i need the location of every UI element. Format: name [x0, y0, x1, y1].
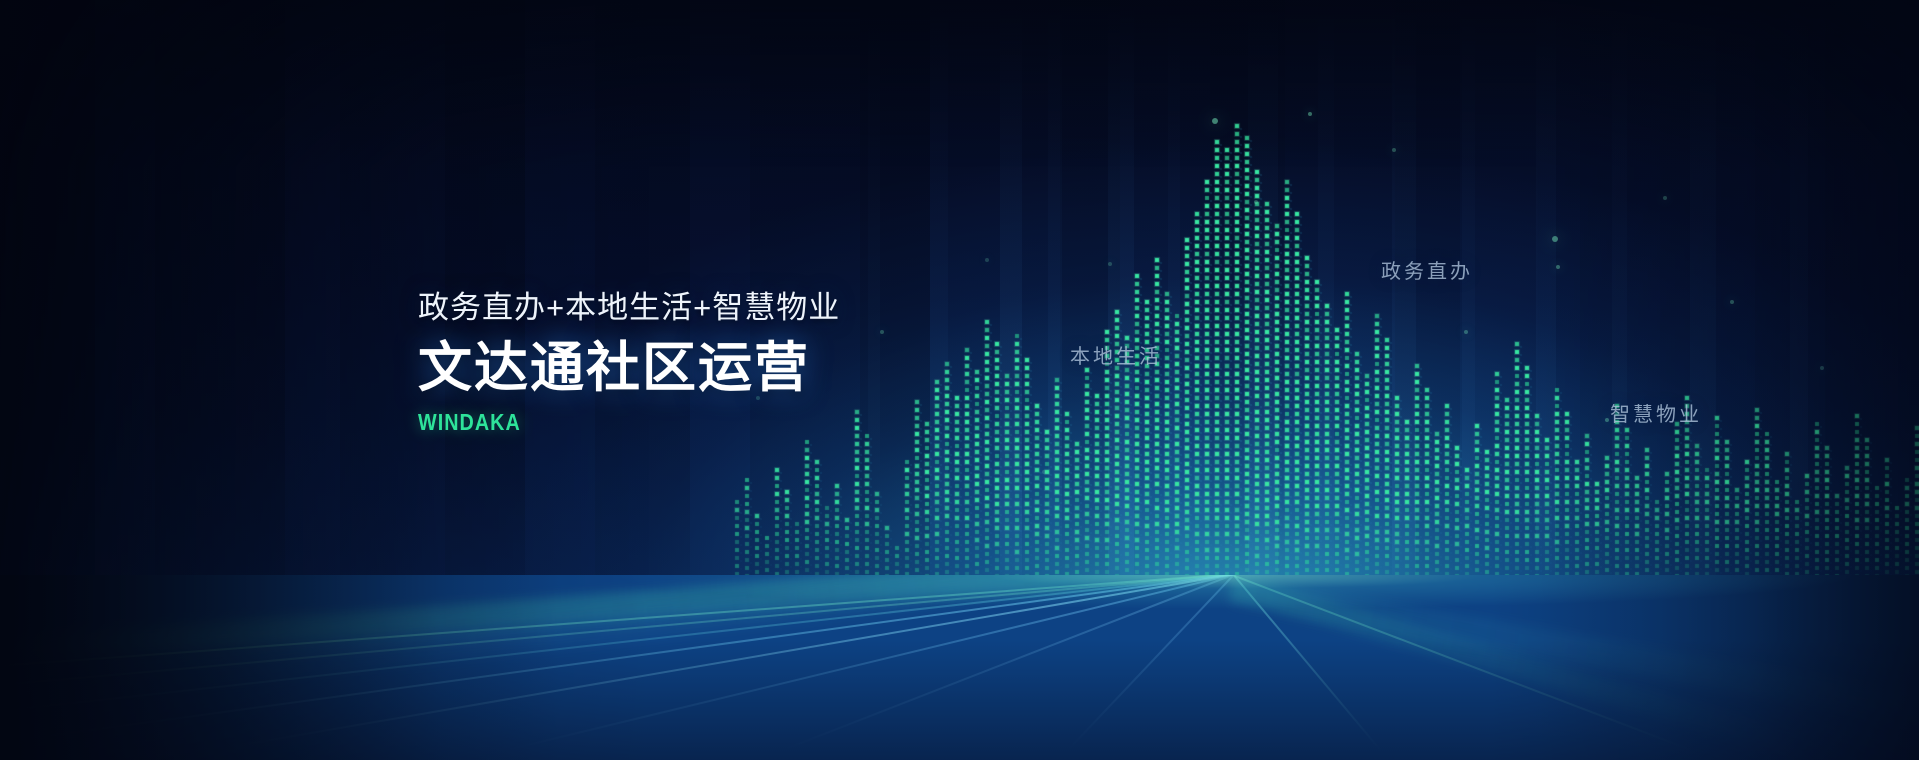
city-label-3: 智慧物业 — [1610, 398, 1702, 427]
sparkle-particle — [1556, 265, 1560, 269]
sparkle-particle — [1108, 262, 1112, 266]
light-beam — [1108, 0, 1134, 620]
ground-bottom-fade — [0, 640, 1919, 760]
banner-headline: 文达通社区运营 — [418, 341, 840, 395]
sparkle-particle — [1464, 330, 1468, 334]
sparkle-particle — [1552, 236, 1558, 242]
sparkle-particle — [1730, 300, 1734, 304]
sparkle-particle — [1212, 118, 1218, 124]
sparkle-particle — [1254, 200, 1258, 204]
sparkle-particle — [1605, 418, 1609, 422]
light-beam — [1000, 0, 1022, 600]
sparkle-particle — [1308, 112, 1312, 116]
sparkle-particle — [880, 330, 884, 334]
sparkle-particle — [1820, 366, 1824, 370]
light-beam — [1536, 0, 1556, 600]
sparkle-particle — [1042, 470, 1046, 474]
city-label-2: 政务直办 — [1381, 255, 1473, 284]
light-beams — [0, 0, 1919, 640]
light-beam — [1318, 0, 1334, 580]
light-beam — [930, 0, 948, 560]
light-beam — [1168, 0, 1180, 520]
dotted-city-skyline — [0, 0, 1919, 640]
headline-block: 政务直办+本地生活+智慧物业 文达通社区运营 WINDAKA — [418, 292, 840, 434]
light-beam — [1248, 0, 1278, 640]
city-label-1: 本地生活 — [1070, 340, 1162, 369]
light-beam — [1790, 0, 1808, 560]
sparkle-particle — [1663, 196, 1667, 200]
perspective-ground — [0, 575, 1919, 760]
light-beam — [1690, 0, 1716, 600]
light-beam — [1048, 0, 1062, 560]
sparkle-particle — [1392, 148, 1396, 152]
brand-wordmark: WINDAKA — [418, 411, 781, 434]
light-beam — [868, 0, 880, 500]
sparkle-particle — [985, 258, 989, 262]
banner-subtitle: 政务直办+本地生活+智慧物业 — [418, 292, 840, 323]
marketing-banner: 本地生活政务直办智慧物业 政务直办+本地生活+智慧物业 文达通社区运营 WIND… — [0, 0, 1919, 760]
horizon-glow — [0, 575, 1919, 611]
light-beam — [1612, 0, 1627, 560]
light-beam — [1392, 0, 1416, 610]
